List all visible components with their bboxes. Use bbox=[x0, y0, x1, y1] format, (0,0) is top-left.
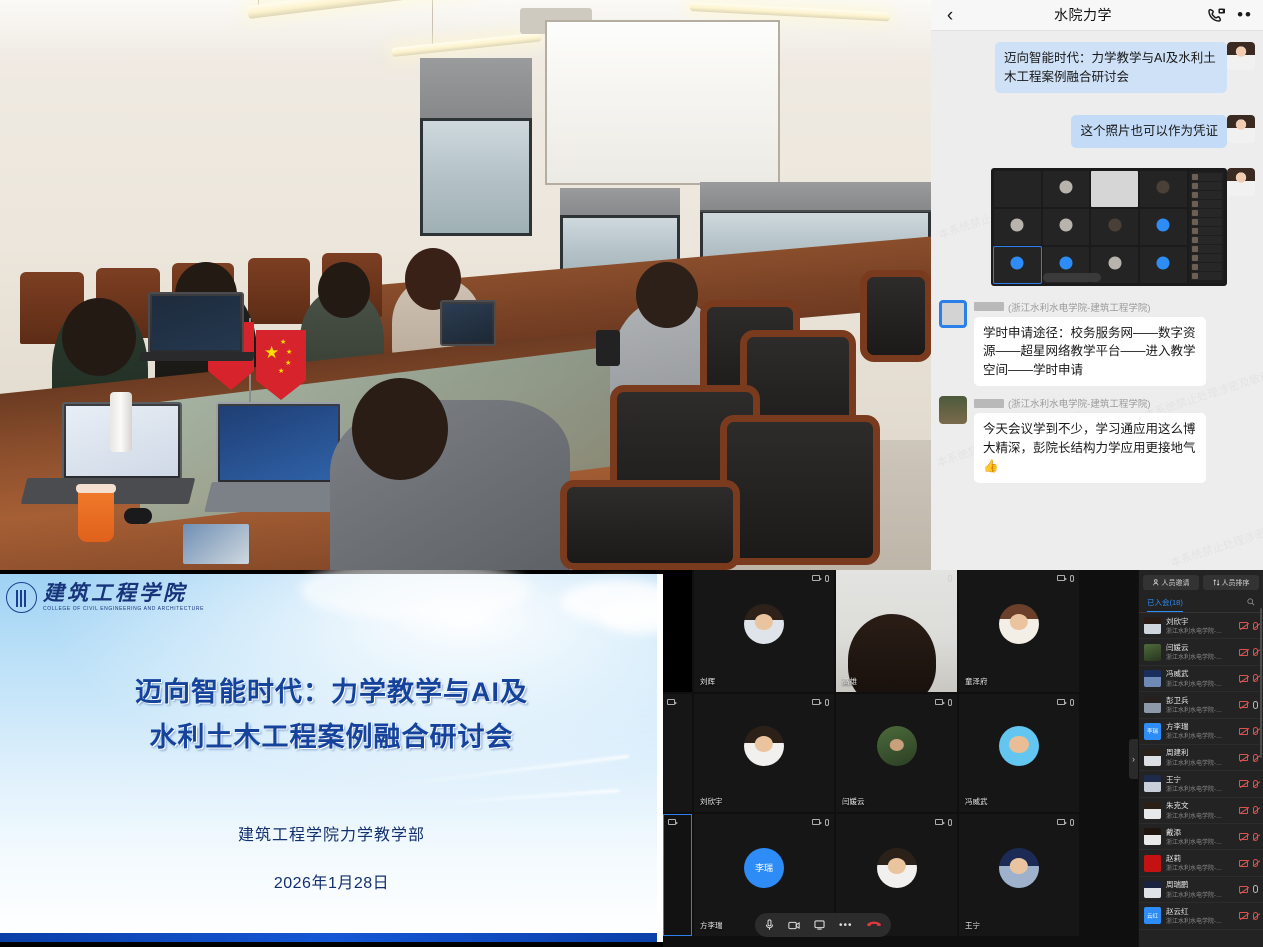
tile-status-icons bbox=[1057, 819, 1074, 826]
tile-status-icons bbox=[1057, 575, 1074, 582]
window-blind bbox=[560, 188, 680, 218]
participant-org: 浙江水利水电学院-… bbox=[1166, 863, 1234, 872]
microphone-off-icon[interactable] bbox=[1253, 674, 1258, 682]
search-icon[interactable] bbox=[1247, 598, 1255, 611]
participant-name: 王宁 bbox=[965, 920, 980, 931]
video-tile[interactable]: 童泽府 bbox=[959, 570, 1079, 692]
message-bubble[interactable]: 学时申请途径：校务服务网——数字资源——超星网络教学平台——进入教学空间——学时… bbox=[974, 317, 1206, 387]
tile-status-icons bbox=[668, 819, 676, 825]
meeting-screenshot-image[interactable] bbox=[991, 168, 1227, 286]
participant-controls bbox=[1239, 780, 1258, 788]
grid-cell bbox=[1043, 171, 1090, 207]
participant-org: 浙江水利水电学院-… bbox=[1166, 626, 1234, 635]
logo-name-cn: 建筑工程学院 bbox=[43, 583, 204, 604]
sky-streak bbox=[420, 789, 620, 806]
video-tile-selected[interactable] bbox=[663, 814, 692, 936]
tile-status-icons bbox=[1057, 699, 1074, 706]
participant-avatar bbox=[744, 726, 784, 766]
person-head bbox=[62, 298, 136, 376]
participants-scrollbar[interactable] bbox=[1260, 608, 1262, 758]
avatar[interactable] bbox=[1227, 168, 1255, 196]
camera-icon bbox=[667, 699, 675, 705]
sender-line: (浙江水利水电学院-建筑工程学院) bbox=[974, 300, 1206, 314]
participant-controls bbox=[1239, 859, 1258, 867]
panel-row bbox=[1191, 209, 1222, 217]
camera-off-icon[interactable] bbox=[1239, 780, 1248, 787]
drink-cup bbox=[78, 490, 114, 542]
participant-row[interactable]: 云红 赵云红 浙江水利水电学院-… bbox=[1139, 903, 1263, 929]
participant-name: 冯威武 bbox=[1166, 669, 1234, 678]
participant-name: 刘辉 bbox=[700, 676, 715, 687]
participant-org: 浙江水利水电学院-… bbox=[1166, 731, 1234, 740]
participant-meta: 王宁 浙江水利水电学院-… bbox=[1166, 775, 1234, 793]
participant-avatar bbox=[1059, 219, 1072, 232]
microphone-on-icon[interactable] bbox=[1253, 885, 1258, 893]
participant-avatar bbox=[1144, 696, 1161, 713]
tile-status-icons bbox=[935, 699, 952, 706]
mouse bbox=[124, 508, 152, 524]
participant-row[interactable]: 冯威武 浙江水利水电学院-… bbox=[1139, 666, 1263, 692]
participant-row[interactable]: 刘欣宇 浙江水利水电学院-… bbox=[1139, 613, 1263, 639]
participants-list[interactable]: 刘欣宇 浙江水利水电学院-… 闫媛云 浙江水利水电学院-… bbox=[1139, 613, 1263, 947]
camera-off-icon[interactable] bbox=[1239, 860, 1248, 867]
tile-status-icons bbox=[667, 699, 675, 705]
participant-org: 浙江水利水电学院-… bbox=[1166, 784, 1234, 793]
message-column: (浙江水利水电学院-建筑工程学院) 学时申请途径：校务服务网——数字资源——超星… bbox=[974, 300, 1206, 387]
participant-avatar: 李瑞 bbox=[744, 848, 784, 888]
window bbox=[420, 118, 532, 236]
chat-header: ‹ 水院力学 •• bbox=[931, 0, 1263, 31]
avatar-face bbox=[1009, 736, 1029, 754]
microphone-off-icon[interactable] bbox=[1253, 806, 1258, 814]
participant-org: 浙江水利水电学院-… bbox=[1166, 652, 1234, 661]
panel-row bbox=[1191, 254, 1222, 262]
participant-meta: 闫媛云 浙江水利水电学院-… bbox=[1166, 643, 1234, 661]
participant-row[interactable]: 彭卫兵 浙江水利水电学院-… bbox=[1139, 692, 1263, 718]
more-icon[interactable]: ••• bbox=[839, 923, 853, 928]
participant-org: 浙江水利水电学院-… bbox=[1166, 705, 1234, 714]
participant-avatar bbox=[1144, 881, 1161, 898]
participant-meta: 方李瑞 浙江水利水电学院-… bbox=[1166, 722, 1234, 740]
message-bubble[interactable]: 迈向智能时代：力学教学与AI及水利土木工程案例融合研讨会 bbox=[995, 42, 1227, 93]
participant-avatar bbox=[999, 604, 1039, 644]
slide-title: 迈向智能时代：力学教学与AI及 水利土木工程案例融合研讨会 bbox=[0, 670, 663, 759]
participant-name: 赵莉 bbox=[1166, 854, 1234, 863]
video-call-icon[interactable] bbox=[1207, 8, 1225, 23]
participant-name: 周建利 bbox=[1166, 748, 1234, 757]
microphone-icon bbox=[825, 819, 829, 826]
tile-status-icons bbox=[935, 819, 952, 826]
presentation-slide: 建筑工程学院 COLLEGE OF CIVIL ENGINEERING AND … bbox=[0, 570, 663, 947]
panel-row bbox=[1191, 182, 1222, 190]
microphone-off-icon[interactable] bbox=[1253, 859, 1258, 867]
participant-name: 闫媛云 bbox=[1166, 643, 1234, 652]
chair bbox=[560, 480, 740, 570]
participant-meta: 戴添 浙江水利水电学院-… bbox=[1166, 828, 1234, 846]
tab-sort-label: 人员排序 bbox=[1222, 578, 1250, 588]
camera-off-icon[interactable] bbox=[1239, 701, 1248, 708]
back-chevron-icon[interactable]: ‹ bbox=[941, 6, 959, 24]
participant-avatar bbox=[1144, 617, 1161, 634]
participant-name: 闫媛云 bbox=[842, 796, 865, 807]
grid-cell bbox=[1091, 171, 1138, 207]
panel-row bbox=[1191, 245, 1222, 253]
chat-message-list[interactable]: 本系统禁止处理涉密及敏感信息 本系统禁止处理涉密及敏感信息 本系统禁止处理涉密及… bbox=[931, 31, 1263, 570]
participant-avatar bbox=[999, 726, 1039, 766]
sky-streak bbox=[381, 755, 630, 788]
participant-controls bbox=[1239, 912, 1258, 920]
conference-toolbar: ••• bbox=[755, 913, 891, 937]
camera-icon bbox=[935, 819, 943, 825]
camera-icon bbox=[1057, 575, 1065, 581]
video-tile[interactable]: 王宁 bbox=[959, 814, 1079, 936]
participant-org: 浙江水利水电学院-… bbox=[1166, 679, 1234, 688]
window-blind bbox=[700, 182, 931, 212]
more-dots-icon[interactable]: •• bbox=[1237, 11, 1253, 19]
grid-cell bbox=[1140, 247, 1187, 283]
participant-name: 刘欣宇 bbox=[700, 796, 723, 807]
camera-icon bbox=[1057, 699, 1065, 705]
meeting-room-photo: ☭ ★ ★ ★ ★ ★ bbox=[0, 0, 931, 570]
chat-message: 这个照片也可以作为凭证 bbox=[931, 93, 1263, 148]
participant-avatar bbox=[1144, 855, 1161, 872]
video-tile[interactable]: 高雄 bbox=[836, 570, 957, 692]
redacted-sender-name bbox=[974, 399, 1004, 408]
participant-controls bbox=[1239, 885, 1258, 893]
avatar-face bbox=[887, 858, 905, 874]
chair bbox=[860, 270, 931, 362]
microphone-off-icon[interactable] bbox=[1253, 754, 1258, 762]
microphone-icon[interactable] bbox=[765, 919, 774, 931]
camera-off-icon[interactable] bbox=[1239, 622, 1248, 629]
participant-org: 浙江水利水电学院-… bbox=[1166, 811, 1234, 820]
chat-message: 迈向智能时代：力学教学与AI及水利土木工程案例融合研讨会 bbox=[931, 35, 1263, 93]
camera-icon[interactable] bbox=[788, 921, 800, 930]
slide-canvas: 建筑工程学院 COLLEGE OF CIVIL ENGINEERING AND … bbox=[0, 574, 663, 942]
avatar-face bbox=[1010, 614, 1028, 630]
participant-row[interactable]: 周瑞鹏 浙江水利水电学院-… bbox=[1139, 877, 1263, 903]
microphone-icon bbox=[1070, 819, 1074, 826]
video-grid: 刘辉 高雄 童泽府 bbox=[663, 570, 1138, 947]
participant-meta: 冯威武 浙江水利水电学院-… bbox=[1166, 669, 1234, 687]
panel-row bbox=[1191, 218, 1222, 226]
camera-off-icon[interactable] bbox=[1239, 754, 1248, 761]
sender-line: (浙江水利水电学院-建筑工程学院) bbox=[974, 396, 1206, 410]
laptop bbox=[148, 292, 244, 354]
joined-count-label[interactable]: 已入会(18) bbox=[1147, 597, 1183, 612]
booklet bbox=[183, 524, 249, 564]
participant-name: 周瑞鹏 bbox=[1166, 880, 1234, 889]
participant-name: 刘欣宇 bbox=[1166, 617, 1234, 626]
participant-name: 方李瑞 bbox=[700, 920, 723, 931]
participant-org: 浙江水利水电学院-… bbox=[1166, 890, 1234, 899]
slide-subtitle: 建筑工程学院力学教学部 bbox=[0, 821, 663, 845]
tab-sort-person[interactable]: 人员排序 bbox=[1203, 575, 1259, 590]
participant-avatar bbox=[1144, 828, 1161, 845]
next-page-arrow-icon[interactable]: › bbox=[1129, 739, 1138, 779]
video-tile[interactable]: 闫媛云 bbox=[836, 694, 957, 812]
participant-controls bbox=[1239, 806, 1258, 814]
participant-org: 浙江水利水电学院-… bbox=[1166, 916, 1234, 925]
microphone-icon bbox=[948, 699, 952, 706]
camera-off-icon[interactable] bbox=[1239, 807, 1248, 814]
video-tile-empty[interactable] bbox=[663, 570, 692, 692]
camera-off-icon[interactable] bbox=[1239, 886, 1248, 893]
tile-status-icons bbox=[812, 819, 829, 826]
video-conference-panel: 刘辉 高雄 童泽府 bbox=[663, 570, 1263, 947]
participant-avatar bbox=[1144, 802, 1161, 819]
participants-panel: 人员邀请 人员排序 已入会(18) bbox=[1138, 570, 1263, 947]
tile-status-icons bbox=[812, 699, 829, 706]
redacted-sender-name bbox=[974, 302, 1004, 311]
hangup-icon[interactable] bbox=[867, 921, 881, 929]
camera-icon bbox=[935, 699, 943, 705]
participant-name: 冯威武 bbox=[965, 796, 988, 807]
participant-avatar bbox=[1108, 257, 1121, 270]
participant-meta: 刘欣宇 浙江水利水电学院-… bbox=[1166, 617, 1234, 635]
camera-off-icon[interactable] bbox=[1239, 728, 1248, 735]
avatar-face bbox=[1010, 858, 1028, 874]
participant-controls bbox=[1239, 648, 1258, 656]
grid-cell bbox=[994, 171, 1041, 207]
camera-off-icon[interactable] bbox=[1239, 833, 1248, 840]
participant-avatar bbox=[1144, 670, 1161, 687]
participant-controls bbox=[1239, 674, 1258, 682]
microphone-off-icon[interactable] bbox=[1253, 912, 1258, 920]
slide-title-line1: 迈向智能时代：力学教学与AI及 bbox=[0, 670, 663, 715]
participant-org: 浙江水利水电学院-… bbox=[1166, 837, 1234, 846]
cloud bbox=[300, 570, 530, 620]
participant-name: 方李瑞 bbox=[1166, 722, 1234, 731]
grid-cell bbox=[1043, 209, 1090, 245]
camera-off-icon[interactable] bbox=[1239, 649, 1248, 656]
participant-avatar bbox=[1157, 257, 1170, 270]
microphone-off-icon[interactable] bbox=[1253, 648, 1258, 656]
panel-row bbox=[1191, 263, 1222, 271]
sender-org: (浙江水利水电学院-建筑工程学院) bbox=[1008, 300, 1151, 314]
avatar[interactable] bbox=[1227, 42, 1255, 70]
participant-avatar bbox=[1011, 219, 1024, 232]
participant-row[interactable]: 朱克文 浙江水利水电学院-… bbox=[1139, 798, 1263, 824]
thermos bbox=[110, 392, 132, 452]
screen-root: ☭ ★ ★ ★ ★ ★ bbox=[0, 0, 1263, 947]
window-blind bbox=[420, 58, 532, 120]
screenshot-toolbar bbox=[1043, 273, 1101, 282]
panel-row bbox=[1191, 272, 1222, 280]
participant-avatar bbox=[1144, 749, 1161, 766]
tile-status-icons bbox=[812, 575, 829, 582]
message-column: (浙江水利水电学院-建筑工程学院) 今天会议学到不少，学习通应用这么博大精深，彭… bbox=[974, 396, 1206, 483]
grid-cell bbox=[994, 209, 1041, 245]
participant-row[interactable]: 闫媛云 浙江水利水电学院-… bbox=[1139, 639, 1263, 665]
participant-row[interactable]: 李瑞 方李瑞 浙江水利水电学院-… bbox=[1139, 719, 1263, 745]
laptop bbox=[440, 300, 496, 346]
person-head bbox=[318, 262, 370, 318]
participant-avatar bbox=[877, 726, 917, 766]
grid-cell bbox=[994, 247, 1041, 283]
participant-meta: 彭卫兵 浙江水利水电学院-… bbox=[1166, 696, 1234, 714]
participants-subtabs: 已入会(18) bbox=[1139, 594, 1263, 613]
projection-screen bbox=[545, 20, 780, 185]
grid-cell bbox=[1140, 209, 1187, 245]
participant-name: 王宁 bbox=[1166, 775, 1234, 784]
cloud bbox=[600, 600, 663, 634]
participants-tabs: 人员邀请 人员排序 bbox=[1139, 570, 1263, 594]
slide-date: 2026年1月28日 bbox=[0, 869, 663, 893]
participant-meta: 周瑞鹏 浙江水利水电学院-… bbox=[1166, 880, 1234, 898]
tab-invite-label: 人员邀请 bbox=[1162, 578, 1190, 588]
tab-invite-person[interactable]: 人员邀请 bbox=[1143, 575, 1199, 590]
participant-avatar: 云红 bbox=[1144, 907, 1161, 924]
camera-icon bbox=[812, 819, 820, 825]
logo-seal-icon bbox=[6, 582, 37, 613]
laptop-base bbox=[139, 352, 255, 361]
avatar[interactable] bbox=[939, 300, 967, 328]
share-screen-icon[interactable] bbox=[814, 920, 825, 930]
microphone-icon bbox=[825, 575, 829, 582]
participant-org: 浙江水利水电学院-… bbox=[1166, 758, 1234, 767]
chair bbox=[248, 258, 310, 324]
microphone-off-icon[interactable] bbox=[1253, 622, 1258, 630]
camera-off-icon[interactable] bbox=[1239, 912, 1248, 919]
smartphone bbox=[596, 330, 620, 366]
avatar-face bbox=[755, 614, 773, 630]
panel-row bbox=[1191, 227, 1222, 235]
participant-avatar bbox=[1059, 181, 1072, 194]
camera-icon bbox=[812, 699, 820, 705]
video-tile-empty[interactable] bbox=[663, 694, 692, 812]
participant-controls bbox=[1239, 754, 1258, 762]
chat-message bbox=[931, 148, 1263, 286]
participant-avatar bbox=[744, 604, 784, 644]
participant-name: 高雄 bbox=[842, 676, 857, 687]
participant-controls bbox=[1239, 727, 1258, 735]
invite-person-icon bbox=[1153, 579, 1160, 586]
participant-avatar bbox=[1157, 181, 1170, 194]
panel-row bbox=[1191, 191, 1222, 199]
avatar[interactable] bbox=[939, 396, 967, 424]
participant-meta: 赵莉 浙江水利水电学院-… bbox=[1166, 854, 1234, 872]
participant-avatar bbox=[877, 848, 917, 888]
grid-cell bbox=[1140, 171, 1187, 207]
participant-controls bbox=[1239, 622, 1258, 630]
participant-avatar bbox=[1144, 775, 1161, 792]
screenshot-grid bbox=[994, 171, 1187, 283]
participant-controls bbox=[1239, 833, 1258, 841]
video-tile[interactable]: 冯威武 bbox=[959, 694, 1079, 812]
chat-panel: ‹ 水院力学 •• 本系统禁止处理涉密及敏感信息 本系统禁止处理涉密及敏感信息 … bbox=[931, 0, 1263, 570]
college-logo: 建筑工程学院 COLLEGE OF CIVIL ENGINEERING AND … bbox=[6, 582, 204, 613]
participant-avatar bbox=[1144, 644, 1161, 661]
video-tile[interactable]: 刘欣宇 bbox=[694, 694, 834, 812]
screenshot-participant-panel bbox=[1189, 171, 1224, 283]
participant-name: 彭卫兵 bbox=[1166, 696, 1234, 705]
person-head bbox=[636, 262, 698, 328]
participant-row[interactable]: 戴添 浙江水利水电学院-… bbox=[1139, 824, 1263, 850]
live-video-face bbox=[848, 614, 936, 692]
microphone-off-icon[interactable] bbox=[1253, 727, 1258, 735]
video-tile[interactable]: 刘辉 bbox=[694, 570, 834, 692]
microphone-icon bbox=[948, 575, 952, 582]
camera-icon bbox=[812, 575, 820, 581]
avatar[interactable] bbox=[1227, 115, 1255, 143]
participant-name: 戴添 bbox=[1166, 828, 1234, 837]
participant-avatar bbox=[999, 848, 1039, 888]
participant-row[interactable]: 赵莉 浙江水利水电学院-… bbox=[1139, 850, 1263, 876]
camera-icon bbox=[668, 819, 676, 825]
avatar-face bbox=[889, 739, 903, 751]
participant-row[interactable]: 周建利 浙江水利水电学院-… bbox=[1139, 745, 1263, 771]
panel-row bbox=[1191, 200, 1222, 208]
microphone-icon bbox=[1070, 699, 1074, 706]
cup-lid bbox=[76, 484, 116, 493]
avatar-initials: 李瑞 bbox=[744, 848, 784, 888]
participant-avatar bbox=[1059, 257, 1072, 270]
participant-controls bbox=[1239, 701, 1258, 709]
panel-row bbox=[1191, 236, 1222, 244]
participant-avatar bbox=[1108, 219, 1121, 232]
tile-status-icons bbox=[948, 575, 952, 582]
microphone-icon bbox=[948, 819, 952, 826]
logo-name-en: COLLEGE OF CIVIL ENGINEERING AND ARCHITE… bbox=[43, 606, 204, 612]
laptop-screen bbox=[220, 406, 338, 480]
microphone-off-icon[interactable] bbox=[1253, 780, 1258, 788]
slide-title-line2: 水利土木工程案例融合研讨会 bbox=[0, 715, 663, 760]
participant-meta: 赵云红 浙江水利水电学院-… bbox=[1166, 907, 1234, 925]
participant-avatar bbox=[1157, 219, 1170, 232]
chat-title: 水院力学 bbox=[959, 5, 1207, 25]
participant-avatar bbox=[1011, 257, 1024, 270]
security-watermark: 本系统禁止处理涉密及敏感信息 bbox=[1168, 508, 1263, 570]
chat-message: (浙江水利水电学院-建筑工程学院) 今天会议学到不少，学习通应用这么博大精深，彭… bbox=[931, 386, 1263, 483]
camera-icon bbox=[1057, 819, 1065, 825]
message-bubble[interactable]: 这个照片也可以作为凭证 bbox=[1071, 115, 1227, 148]
sender-org: (浙江水利水电学院-建筑工程学院) bbox=[1008, 396, 1151, 410]
sort-icon bbox=[1213, 579, 1220, 586]
header-actions: •• bbox=[1207, 8, 1253, 23]
participant-name: 赵云红 bbox=[1166, 907, 1234, 916]
participant-name: 朱克文 bbox=[1166, 801, 1234, 810]
microphone-off-icon[interactable] bbox=[1253, 833, 1258, 841]
laptop-screen bbox=[152, 296, 240, 350]
microphone-on-icon[interactable] bbox=[1253, 701, 1258, 709]
laptop bbox=[216, 402, 342, 484]
camera-off-icon[interactable] bbox=[1239, 675, 1248, 682]
message-bubble[interactable]: 今天会议学到不少，学习通应用这么博大精深，彭院长结构力学应用更接地气👍 bbox=[974, 413, 1206, 483]
panel-row bbox=[1191, 173, 1222, 181]
participant-meta: 朱克文 浙江水利水电学院-… bbox=[1166, 801, 1234, 819]
participant-row[interactable]: 王宁 浙江水利水电学院-… bbox=[1139, 771, 1263, 797]
slide-footer-bar bbox=[0, 933, 663, 942]
chat-message: (浙江水利水电学院-建筑工程学院) 学时申请途径：校务服务网——数字资源——超星… bbox=[931, 286, 1263, 387]
person-head bbox=[352, 378, 448, 480]
participant-name: 童泽府 bbox=[965, 676, 988, 687]
participant-avatar: 李瑞 bbox=[1144, 723, 1161, 740]
avatar-face bbox=[755, 736, 773, 752]
chair bbox=[720, 415, 880, 565]
grid-cell bbox=[1091, 209, 1138, 245]
laptop-screen bbox=[444, 304, 492, 342]
participant-meta: 周建利 浙江水利水电学院-… bbox=[1166, 748, 1234, 766]
microphone-icon bbox=[825, 699, 829, 706]
microphone-icon bbox=[1070, 575, 1074, 582]
